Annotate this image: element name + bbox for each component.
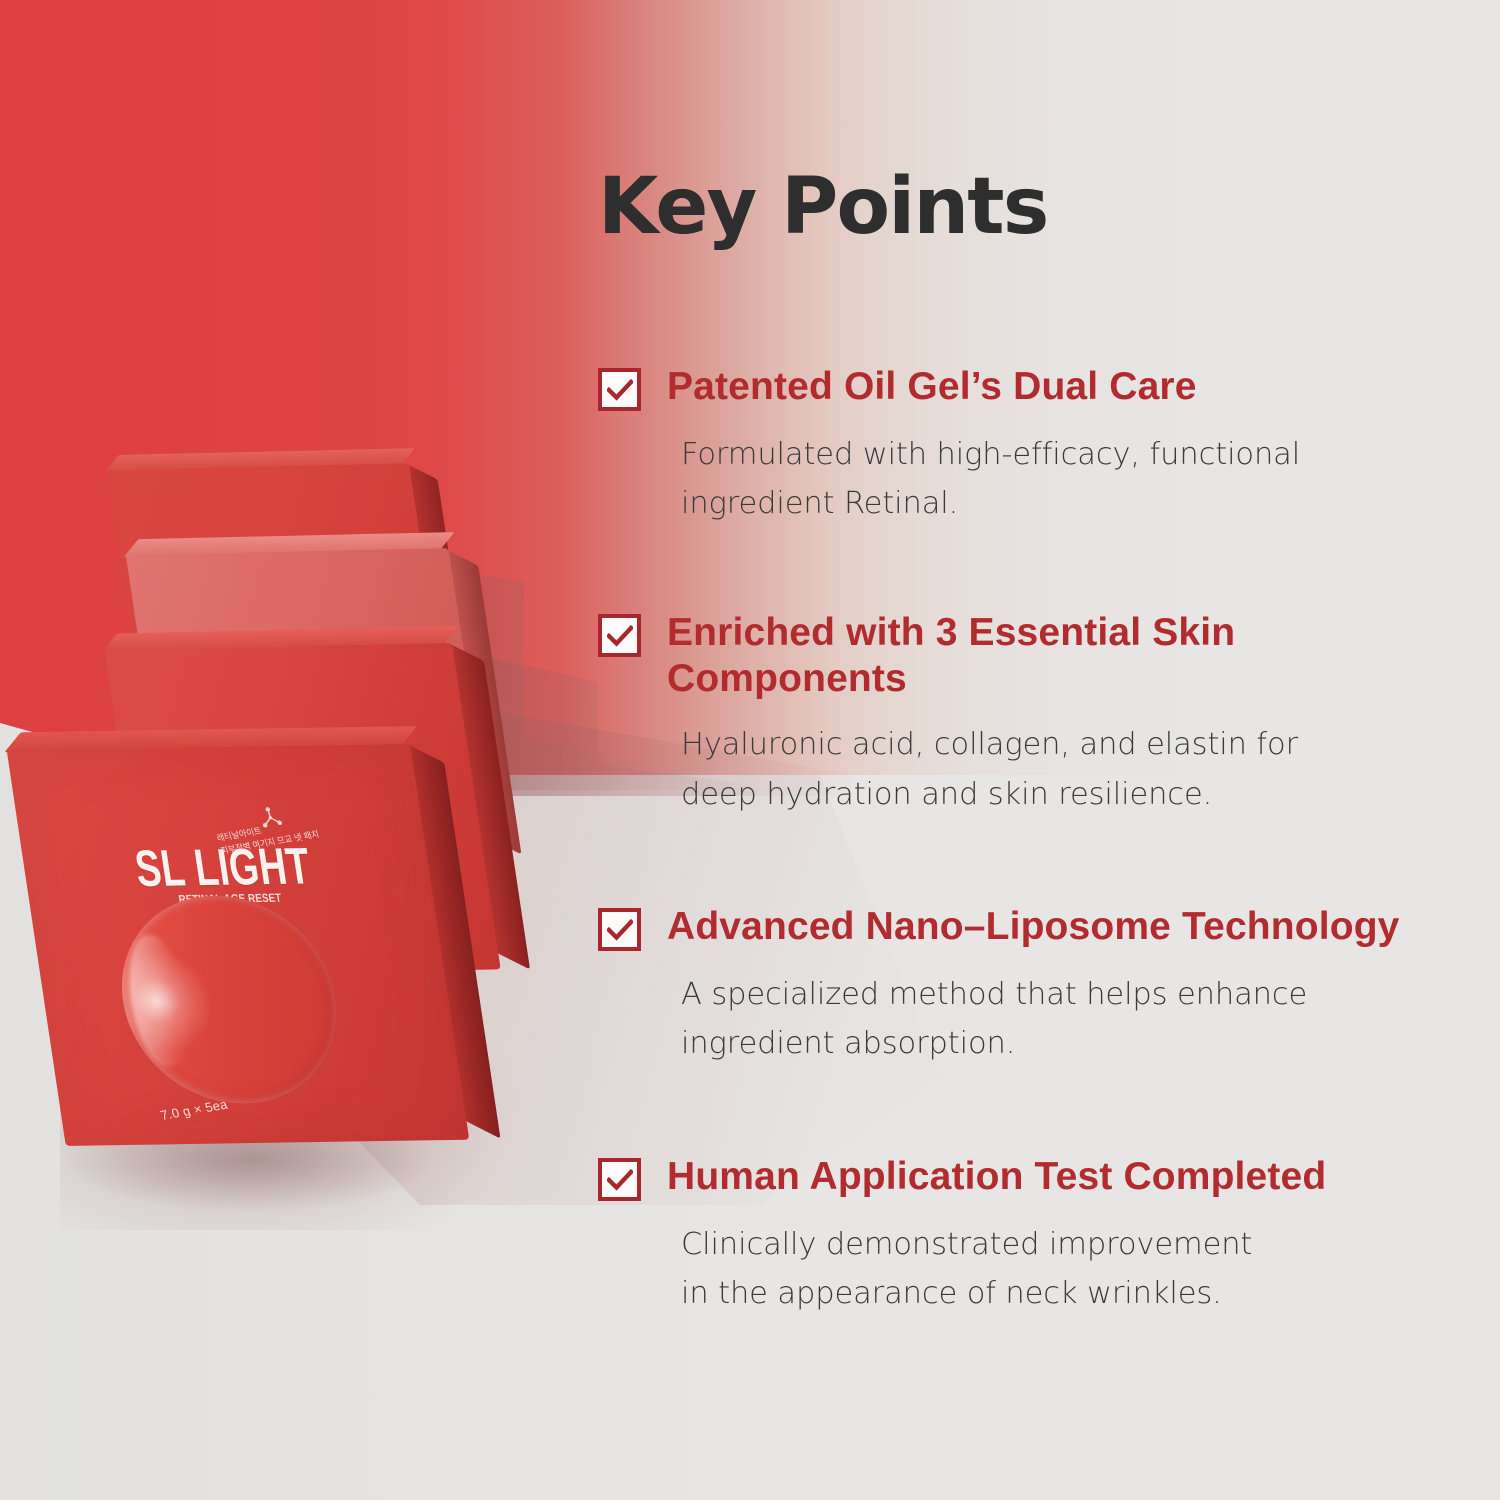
key-point-body-line: Hyaluronic acid, collagen, and elastin f… [681,720,1298,769]
page-title: Key Points [598,168,1458,246]
key-point-heading-row: Advanced Nano–Liposome Technology [598,904,1400,951]
key-point-item: Patented Oil Gel’s Dual Care Formulated … [598,364,1300,529]
key-points-panel: Key Points Patented Oil Gel’s Dual Care … [598,168,1458,246]
box-front-face: SL LIGHT RETINAL AGE RESET NECK PATCH [7,744,470,1146]
net-content-label: 7.0 g × 5ea [159,1097,230,1123]
key-point-title: Human Application Test Completed [667,1154,1326,1200]
key-point-body-line: Formulated with high-efficacy, functiona… [681,430,1300,479]
product-box-front: SL LIGHT RETINAL AGE RESET NECK PATCH [7,744,470,1146]
checkbox-checked-icon [598,614,641,657]
key-point-heading-row: Human Application Test Completed [598,1154,1326,1201]
key-point-body: A specialized method that helps enhance … [681,970,1400,1069]
glossy-foil-circle [108,894,351,1105]
key-point-heading-row: Enriched with 3 Essential Skin Component… [598,610,1298,701]
key-point-heading-row: Patented Oil Gel’s Dual Care [598,364,1300,411]
key-point-body-line: deep hydration and skin resilience. [681,770,1298,819]
key-point-title: Advanced Nano–Liposome Technology [667,904,1400,950]
key-point-body-line: A specialized method that helps enhance [681,970,1400,1019]
key-point-body: Formulated with high-efficacy, functiona… [681,430,1300,529]
key-point-body: Clinically demonstrated improvement in t… [681,1220,1326,1319]
checkbox-checked-icon [598,1158,641,1201]
checkbox-checked-icon [598,908,641,951]
checkbox-checked-icon [598,368,641,411]
product-package-stack: SL LIGHT SL LIGHT SL LIGHT RETINAL AGE R… [0,440,560,1160]
key-point-item: Advanced Nano–Liposome Technology A spec… [598,904,1400,1069]
key-point-title: Enriched with 3 Essential Skin Component… [667,610,1292,701]
key-point-item: Enriched with 3 Essential Skin Component… [598,610,1298,819]
key-point-body-line: in the appearance of neck wrinkles. [681,1269,1326,1318]
key-point-title: Patented Oil Gel’s Dual Care [667,364,1197,410]
key-point-body-line: Clinically demonstrated improvement [681,1220,1326,1269]
key-point-item: Human Application Test Completed Clinica… [598,1154,1326,1319]
key-point-body: Hyaluronic acid, collagen, and elastin f… [681,720,1298,819]
key-point-body-line: ingredient absorption. [681,1019,1400,1068]
product-key-points-graphic: SL LIGHT SL LIGHT SL LIGHT RETINAL AGE R… [0,0,1500,1500]
key-point-body-line: ingredient Retinal. [681,479,1300,528]
